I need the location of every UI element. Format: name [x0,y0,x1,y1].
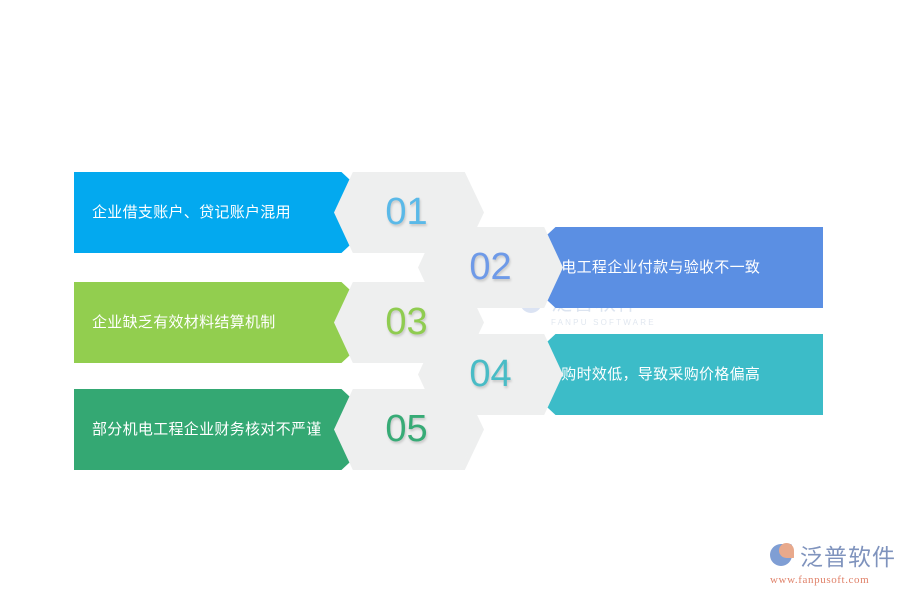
diagram-row-03[interactable]: 企业缺乏有效材料结算机制 03 [74,282,460,363]
diagram-row-05[interactable]: 部分机电工程企业财务核对不严谨 05 [74,389,460,470]
diagram-row-01[interactable]: 企业借支账户、贷记账户混用 01 [74,172,460,253]
logo-url-text: www.fanpusoft.com [770,574,890,586]
row-05-hexagon: 05 [334,389,479,470]
row-01-label: 企业借支账户、贷记账户混用 [74,200,331,225]
infographic-canvas: 泛普软件 FANPU SOFTWARE 企业借支账户、贷记账户混用 01 机电工… [0,0,900,600]
row-03-label: 企业缺乏有效材料结算机制 [74,310,316,335]
row-05-number: 05 [385,408,427,451]
fanpu-leaf-icon [770,542,796,568]
brand-logo: 泛普软件 www.fanpusoft.com [770,538,890,586]
watermark-en-text: FANPU SOFTWARE [551,318,700,327]
diagram-row-02[interactable]: 机电工程企业付款与验收不一致 02 [437,227,823,308]
logo-row: 泛普软件 [770,538,890,572]
row-04-number: 04 [469,353,511,396]
diagram-row-04[interactable]: 采购时效低，导致采购价格偏高 04 [437,334,823,415]
row-01-number: 01 [385,191,427,234]
row-02-number: 02 [469,246,511,289]
row-03-number: 03 [385,301,427,344]
logo-cn-text: 泛普软件 [800,538,896,572]
row-05-label: 部分机电工程企业财务核对不严谨 [74,417,362,442]
